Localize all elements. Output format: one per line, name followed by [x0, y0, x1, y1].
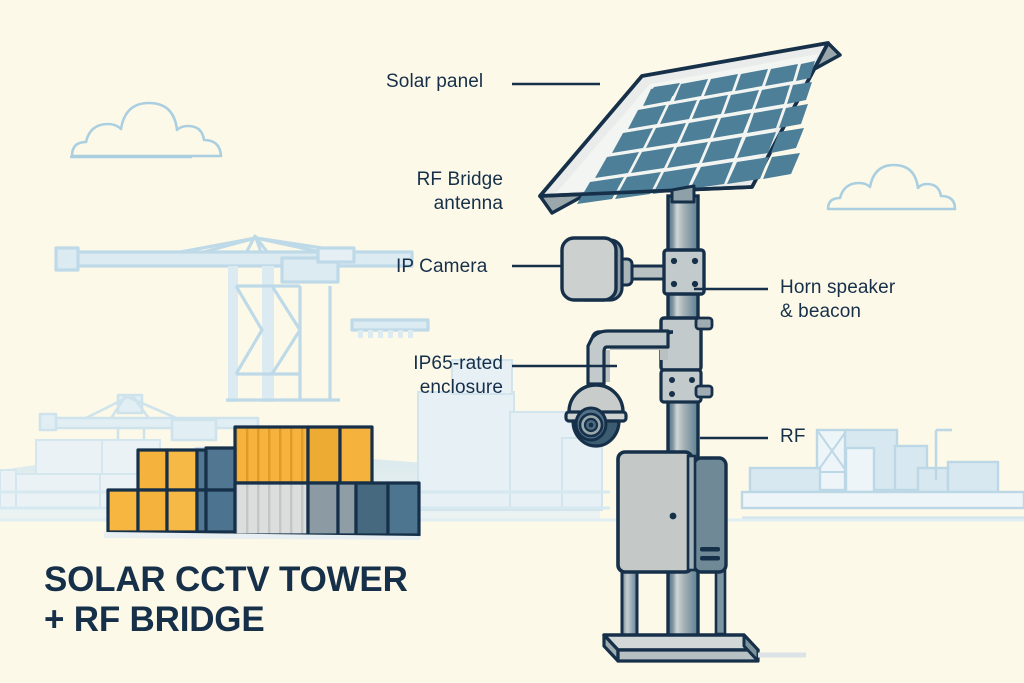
- illustration-canvas: Solar panel RF Bridge antenna IP Camera …: [0, 0, 1024, 683]
- diagram-title: SOLAR CCTV TOWER + RF BRIDGE: [44, 560, 408, 640]
- label-ip-camera: IP Camera: [396, 255, 487, 279]
- label-rf: RF: [780, 425, 990, 449]
- label-ip65-enclosure: IP65-rated enclosure: [343, 352, 503, 400]
- label-horn-speaker-beacon: Horn speaker & beacon: [780, 276, 980, 324]
- label-rf-bridge-antenna: RF Bridge antenna: [343, 168, 503, 216]
- label-solar-panel: Solar panel: [386, 70, 483, 94]
